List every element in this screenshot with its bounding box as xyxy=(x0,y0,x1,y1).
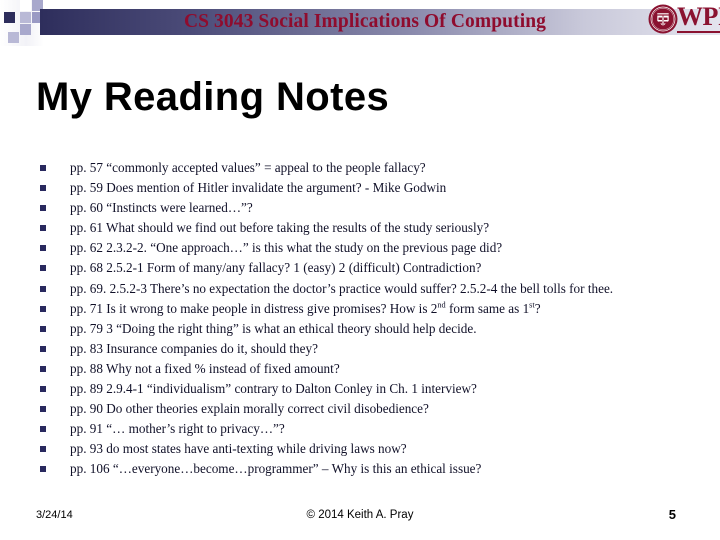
list-item: pp. 61 What should we find out before ta… xyxy=(36,218,696,238)
header-deco-square xyxy=(8,32,19,43)
slide-canvas: CS 3043 Social Implications Of Computing… xyxy=(0,0,720,540)
slide-header: CS 3043 Social Implications Of Computing… xyxy=(0,0,720,46)
page-title: My Reading Notes xyxy=(36,74,389,120)
list-item: pp. 60 “Instincts were learned…”? xyxy=(36,198,696,218)
list-item: pp. 69. 2.5.2-3 There’s no expectation t… xyxy=(36,279,696,299)
square-bullet-icon xyxy=(40,406,46,412)
list-item: pp. 59 Does mention of Hitler invalidate… xyxy=(36,178,696,198)
list-item: pp. 83 Insurance companies do it, should… xyxy=(36,339,696,359)
list-item-text: pp. 83 Insurance companies do it, should… xyxy=(70,341,318,356)
course-title: CS 3043 Social Implications Of Computing xyxy=(120,8,610,36)
list-item-text: pp. 61 What should we find out before ta… xyxy=(70,220,489,235)
square-bullet-icon xyxy=(40,426,46,432)
list-item-text: pp. 69. 2.5.2-3 There’s no expectation t… xyxy=(70,281,613,296)
square-bullet-icon xyxy=(40,386,46,392)
list-item-text: pp. 62 2.3.2-2. “One approach…” is this … xyxy=(70,240,502,255)
list-item-text: pp. 89 2.9.4-1 “individualism” contrary … xyxy=(70,381,477,396)
square-bullet-icon xyxy=(40,326,46,332)
list-item: pp. 93 do most states have anti-texting … xyxy=(36,439,696,459)
square-bullet-icon xyxy=(40,466,46,472)
footer-copyright: © 2014 Keith A. Pray xyxy=(0,509,720,521)
square-bullet-icon xyxy=(40,346,46,352)
list-item-text: pp. 90 Do other theories explain morally… xyxy=(70,401,429,416)
list-item-text: pp. 106 “…everyone…become…programmer” – … xyxy=(70,461,481,476)
list-item-text: pp. 57 “commonly accepted values” = appe… xyxy=(70,160,426,175)
square-bullet-icon xyxy=(40,165,46,171)
footer-page-number: 5 xyxy=(669,507,676,522)
wpi-logo: WPI xyxy=(648,1,720,43)
list-item: pp. 88 Why not a fixed % instead of fixe… xyxy=(36,359,696,379)
list-item-text: pp. 88 Why not a fixed % instead of fixe… xyxy=(70,361,340,376)
list-item-text: pp. 60 “Instincts were learned…”? xyxy=(70,200,253,215)
list-item: pp. 57 “commonly accepted values” = appe… xyxy=(36,158,696,178)
square-bullet-icon xyxy=(40,245,46,251)
header-deco-square xyxy=(20,24,31,35)
square-bullet-icon xyxy=(40,185,46,191)
reading-notes-list: pp. 57 “commonly accepted values” = appe… xyxy=(36,158,696,480)
list-item: pp. 68 2.5.2-1 Form of many/any fallacy?… xyxy=(36,258,696,278)
list-item-text: pp. 59 Does mention of Hitler invalidate… xyxy=(70,180,446,195)
square-bullet-icon xyxy=(40,366,46,372)
list-item: pp. 91 “… mother’s right to privacy…”? xyxy=(36,419,696,439)
square-bullet-icon xyxy=(40,225,46,231)
list-item: pp. 89 2.9.4-1 “individualism” contrary … xyxy=(36,379,696,399)
header-deco-square xyxy=(20,12,31,23)
wpi-wordmark: WPI xyxy=(677,3,720,31)
list-item: pp. 79 3 “Doing the right thing” is what… xyxy=(36,319,696,339)
header-deco-square xyxy=(20,0,31,11)
wpi-seal-icon xyxy=(648,4,678,34)
square-bullet-icon xyxy=(40,205,46,211)
wpi-underline-rule xyxy=(677,31,720,33)
list-item-text: pp. 79 3 “Doing the right thing” is what… xyxy=(70,321,477,336)
square-bullet-icon xyxy=(40,265,46,271)
list-item-text: pp. 68 2.5.2-1 Form of many/any fallacy?… xyxy=(70,260,481,275)
list-item: pp. 62 2.3.2-2. “One approach…” is this … xyxy=(36,238,696,258)
header-deco-square xyxy=(4,12,15,23)
square-bullet-icon xyxy=(40,446,46,452)
list-item-text: pp. 71 Is it wrong to make people in dis… xyxy=(70,301,541,316)
list-item: pp. 71 Is it wrong to make people in dis… xyxy=(36,299,696,319)
list-item-text: pp. 93 do most states have anti-texting … xyxy=(70,441,407,456)
square-bullet-icon xyxy=(40,306,46,312)
list-item: pp. 90 Do other theories explain morally… xyxy=(36,399,696,419)
list-item: pp. 106 “…everyone…become…programmer” – … xyxy=(36,459,696,479)
square-bullet-icon xyxy=(40,286,46,292)
list-item-text: pp. 91 “… mother’s right to privacy…”? xyxy=(70,421,285,436)
